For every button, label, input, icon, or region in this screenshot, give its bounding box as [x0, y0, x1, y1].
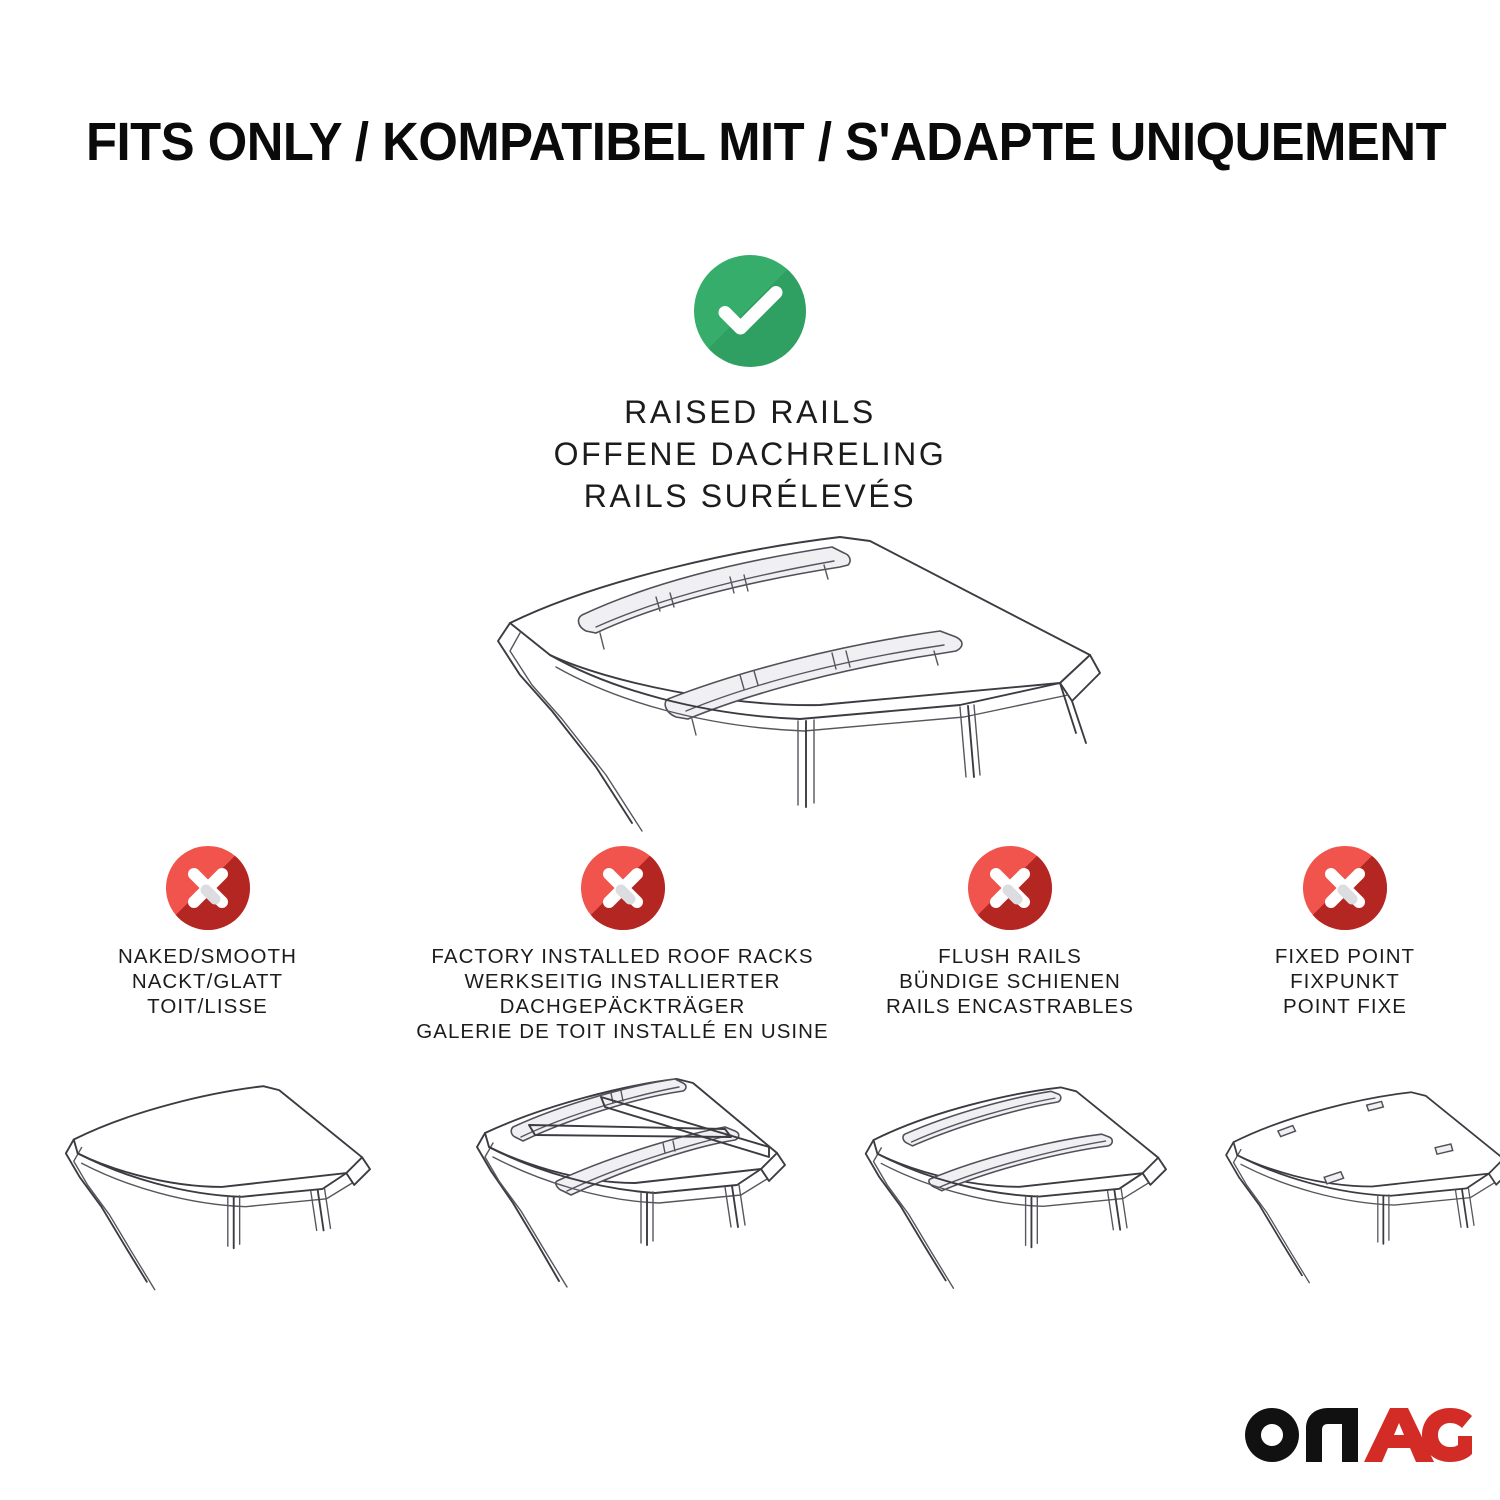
- rejected-label-group: FIXED POINT FIXPUNKT POINT FIXE: [1190, 944, 1500, 1019]
- omac-logo: [1236, 1400, 1474, 1470]
- page-title: FITS ONLY / KOMPATIBEL MIT / S'ADAPTE UN…: [86, 112, 1446, 172]
- rejected-label-line-3: DACHGEPÄCKTRÄGER: [415, 994, 830, 1019]
- logo-letter-m: [1306, 1408, 1358, 1462]
- raised-rails-roof-illustration: [400, 505, 1120, 845]
- rejected-label-line-2: NACKT/GLATT: [0, 969, 415, 994]
- fixed-point-roof-illustration: [1178, 1061, 1500, 1301]
- x-circle-icon: [166, 846, 250, 930]
- rejected-option-naked-smooth: NAKED/SMOOTH NACKT/GLATT TOIT/LISSE: [0, 846, 415, 1044]
- rejected-label-line-1: NAKED/SMOOTH: [0, 944, 415, 969]
- logo-letter-o: [1245, 1408, 1299, 1462]
- rejected-fitment-row: NAKED/SMOOTH NACKT/GLATT TOIT/LISSE: [0, 846, 1500, 1044]
- rejected-option-flush-rails: FLUSH RAILS BÜNDIGE SCHIENEN RAILS ENCAS…: [830, 846, 1190, 1044]
- rejected-label-line-3: POINT FIXE: [1190, 994, 1500, 1019]
- rejected-option-fixed-point: FIXED POINT FIXPUNKT POINT FIXE: [1190, 846, 1500, 1044]
- rejected-label-line-3: RAILS ENCASTRABLES: [830, 994, 1190, 1019]
- rejected-label-line-1: FLUSH RAILS: [830, 944, 1190, 969]
- rejected-option-factory-roof-racks: FACTORY INSTALLED ROOF RACKS WERKSEITIG …: [415, 846, 830, 1044]
- flush-rails-roof-illustration: [815, 1061, 1205, 1301]
- rejected-label-line-1: FACTORY INSTALLED ROOF RACKS: [415, 944, 830, 969]
- approved-fitment-block: RAISED RAILS OFFENE DACHRELING RAILS SUR…: [0, 255, 1500, 517]
- factory-roof-rack-illustration: [425, 1061, 825, 1301]
- naked-smooth-roof-illustration: [14, 1061, 409, 1301]
- rejected-label-line-2: FIXPUNKT: [1190, 969, 1500, 994]
- approved-label-de: OFFENE DACHRELING: [0, 433, 1500, 475]
- rejected-label-line-4: GALERIE DE TOIT INSTALLÉ EN USINE: [415, 1019, 830, 1044]
- rejected-label-line-2: BÜNDIGE SCHIENEN: [830, 969, 1190, 994]
- approved-label-en: RAISED RAILS: [0, 391, 1500, 433]
- check-circle-icon: [694, 255, 806, 367]
- rejected-label-line-1: FIXED POINT: [1190, 944, 1500, 969]
- rejected-label-line-2: WERKSEITIG INSTALLIERTER: [415, 969, 830, 994]
- x-circle-icon: [968, 846, 1052, 930]
- approved-label-group: RAISED RAILS OFFENE DACHRELING RAILS SUR…: [0, 391, 1500, 517]
- rejected-label-group: NAKED/SMOOTH NACKT/GLATT TOIT/LISSE: [0, 944, 415, 1019]
- logo-letter-c: [1422, 1408, 1472, 1462]
- x-circle-icon: [581, 846, 665, 930]
- rejected-label-line-3: TOIT/LISSE: [0, 994, 415, 1019]
- rejected-label-group: FACTORY INSTALLED ROOF RACKS WERKSEITIG …: [415, 944, 830, 1044]
- rejected-label-group: FLUSH RAILS BÜNDIGE SCHIENEN RAILS ENCAS…: [830, 944, 1190, 1019]
- x-circle-icon: [1303, 846, 1387, 930]
